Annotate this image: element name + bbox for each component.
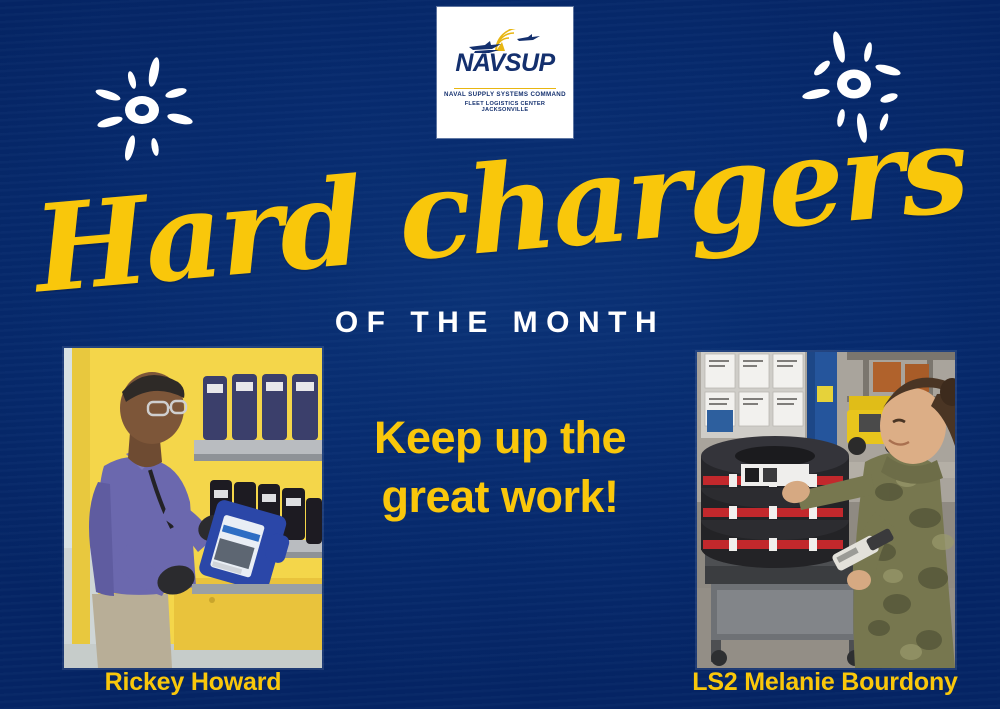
photo-left-illustration xyxy=(64,348,322,668)
navsup-logo-mark: NAVSUP xyxy=(439,29,571,87)
navsup-wordmark-sup: SUP xyxy=(505,49,555,77)
honoree-name-left: Rickey Howard xyxy=(64,668,322,697)
photo-right-illustration xyxy=(697,352,955,668)
navsup-line-command: NAVAL SUPPLY SYSTEMS COMMAND xyxy=(444,91,566,98)
honoree-name-right: LS2 Melanie Bourdony xyxy=(655,668,995,697)
sparkle-left-icon xyxy=(88,48,208,172)
navsup-line-city: JACKSONVILLE xyxy=(482,107,529,113)
navsup-rule xyxy=(454,88,556,89)
poster-canvas: NAVSUP NAVAL SUPPLY SYSTEMS COMMAND FLEE… xyxy=(0,0,1000,709)
encouragement-message: Keep up the great work! xyxy=(330,408,670,527)
honoree-photo-left xyxy=(64,348,322,668)
page-subtitle: OF THE MONTH xyxy=(0,306,1000,340)
navsup-logo: NAVSUP NAVAL SUPPLY SYSTEMS COMMAND FLEE… xyxy=(437,7,573,138)
message-line-2: great work! xyxy=(381,471,618,522)
navsup-wordmark-nav: NAV xyxy=(455,49,504,77)
message-line-1: Keep up the xyxy=(374,412,626,463)
navsup-wordmark: NAVSUP xyxy=(439,51,571,76)
honoree-photo-right xyxy=(697,352,955,668)
